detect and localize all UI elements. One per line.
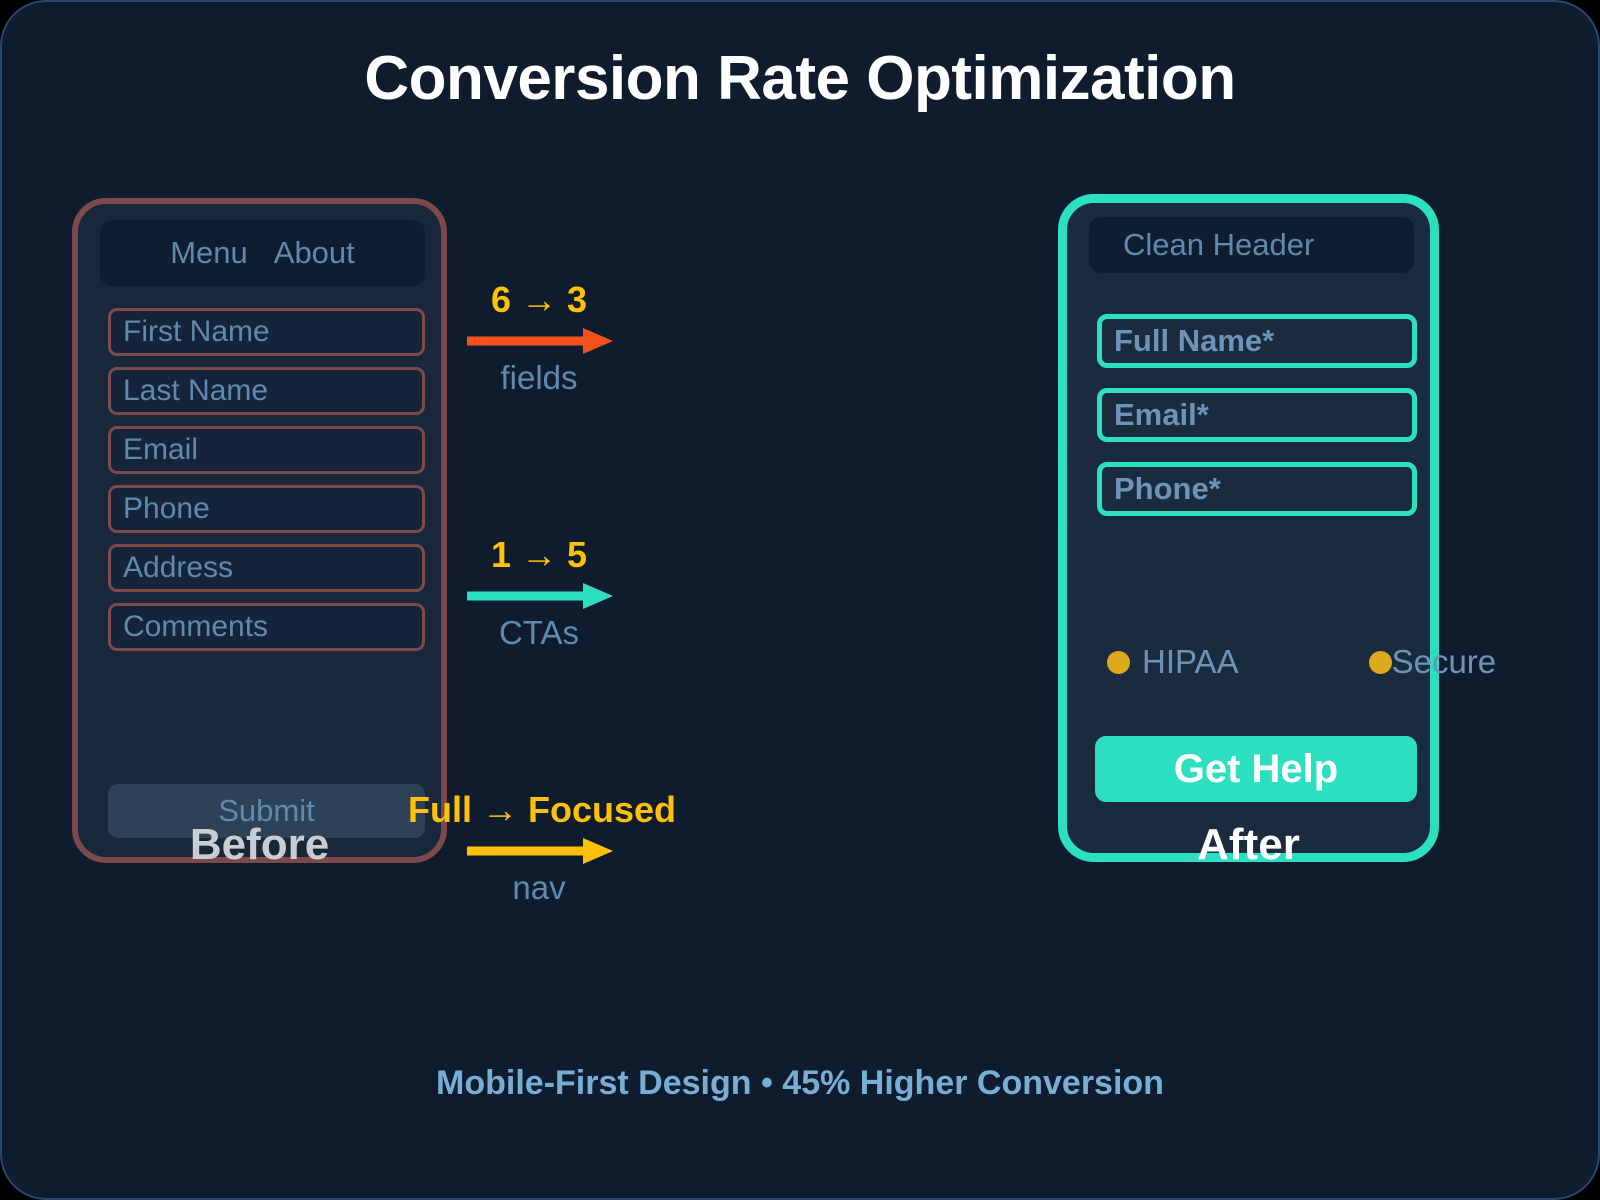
after-field-phone[interactable]: Phone* [1097, 462, 1417, 516]
field-placeholder: First Name [123, 315, 270, 349]
annotation-label: nav [408, 868, 670, 908]
badge-dot-icon [1369, 651, 1392, 674]
badge-label: HIPAA [1142, 643, 1239, 681]
arrow-right-icon [465, 581, 613, 611]
field-placeholder: Address [123, 551, 233, 585]
page-title: Conversion Rate Optimization [2, 48, 1598, 110]
after-phone-mockup: Clean Header Full Name* Email* Phone* HI… [1058, 194, 1439, 862]
before-field-address[interactable]: Address [108, 544, 425, 592]
after-field-email[interactable]: Email* [1097, 388, 1417, 442]
before-field-phone[interactable]: Phone [108, 485, 425, 533]
badge-hipaa: HIPAA [1107, 643, 1239, 681]
after-caption: After [1058, 820, 1439, 870]
annotation-label: fields [408, 358, 670, 398]
field-placeholder: Phone [123, 492, 210, 526]
trust-badges: HIPAA Secure [1107, 643, 1507, 681]
badge-label: Secure [1392, 643, 1497, 681]
annotation-ctas: 1 → 5 CTAs [408, 535, 670, 652]
clean-header-label: Clean Header [1123, 227, 1314, 263]
arrow-right-icon [465, 836, 613, 866]
annotation-fields: 6 → 3 fields [408, 280, 670, 397]
footer-text: Mobile-First Design • 45% Higher Convers… [2, 1064, 1598, 1103]
field-placeholder: Full Name* [1114, 323, 1274, 359]
badge-secure: Secure [1369, 643, 1497, 681]
before-field-first-name[interactable]: First Name [108, 308, 425, 356]
arrow-right-icon [465, 326, 613, 356]
before-field-comments[interactable]: Comments [108, 603, 425, 651]
before-caption: Before [72, 820, 447, 870]
nav-link-menu[interactable]: Menu [170, 235, 248, 271]
nav-link-about[interactable]: About [274, 235, 355, 271]
before-field-last-name[interactable]: Last Name [108, 367, 425, 415]
after-nav-bar: Clean Header [1089, 217, 1414, 273]
field-placeholder: Phone* [1114, 471, 1221, 507]
annotation-label: CTAs [408, 613, 670, 653]
get-help-button[interactable]: Get Help [1095, 736, 1417, 802]
field-placeholder: Comments [123, 610, 268, 644]
field-placeholder: Last Name [123, 374, 268, 408]
after-phone-screen: Clean Header Full Name* Email* Phone* HI… [1067, 203, 1430, 853]
badge-dot-icon [1107, 651, 1130, 674]
before-field-email[interactable]: Email [108, 426, 425, 474]
field-placeholder: Email* [1114, 397, 1209, 433]
annotation-headline: Full → Focused [408, 790, 670, 830]
field-placeholder: Email [123, 433, 198, 467]
slide-canvas: Conversion Rate Optimization Menu About … [0, 0, 1600, 1200]
after-field-full-name[interactable]: Full Name* [1097, 314, 1417, 368]
before-phone-screen: Menu About First Name Last Name Email Ph… [78, 204, 441, 857]
annotation-headline: 6 → 3 [408, 280, 670, 320]
annotation-nav: Full → Focused nav [408, 790, 670, 907]
before-phone-mockup: Menu About First Name Last Name Email Ph… [72, 198, 447, 863]
annotation-headline: 1 → 5 [408, 535, 670, 575]
before-nav-bar: Menu About [100, 220, 425, 286]
